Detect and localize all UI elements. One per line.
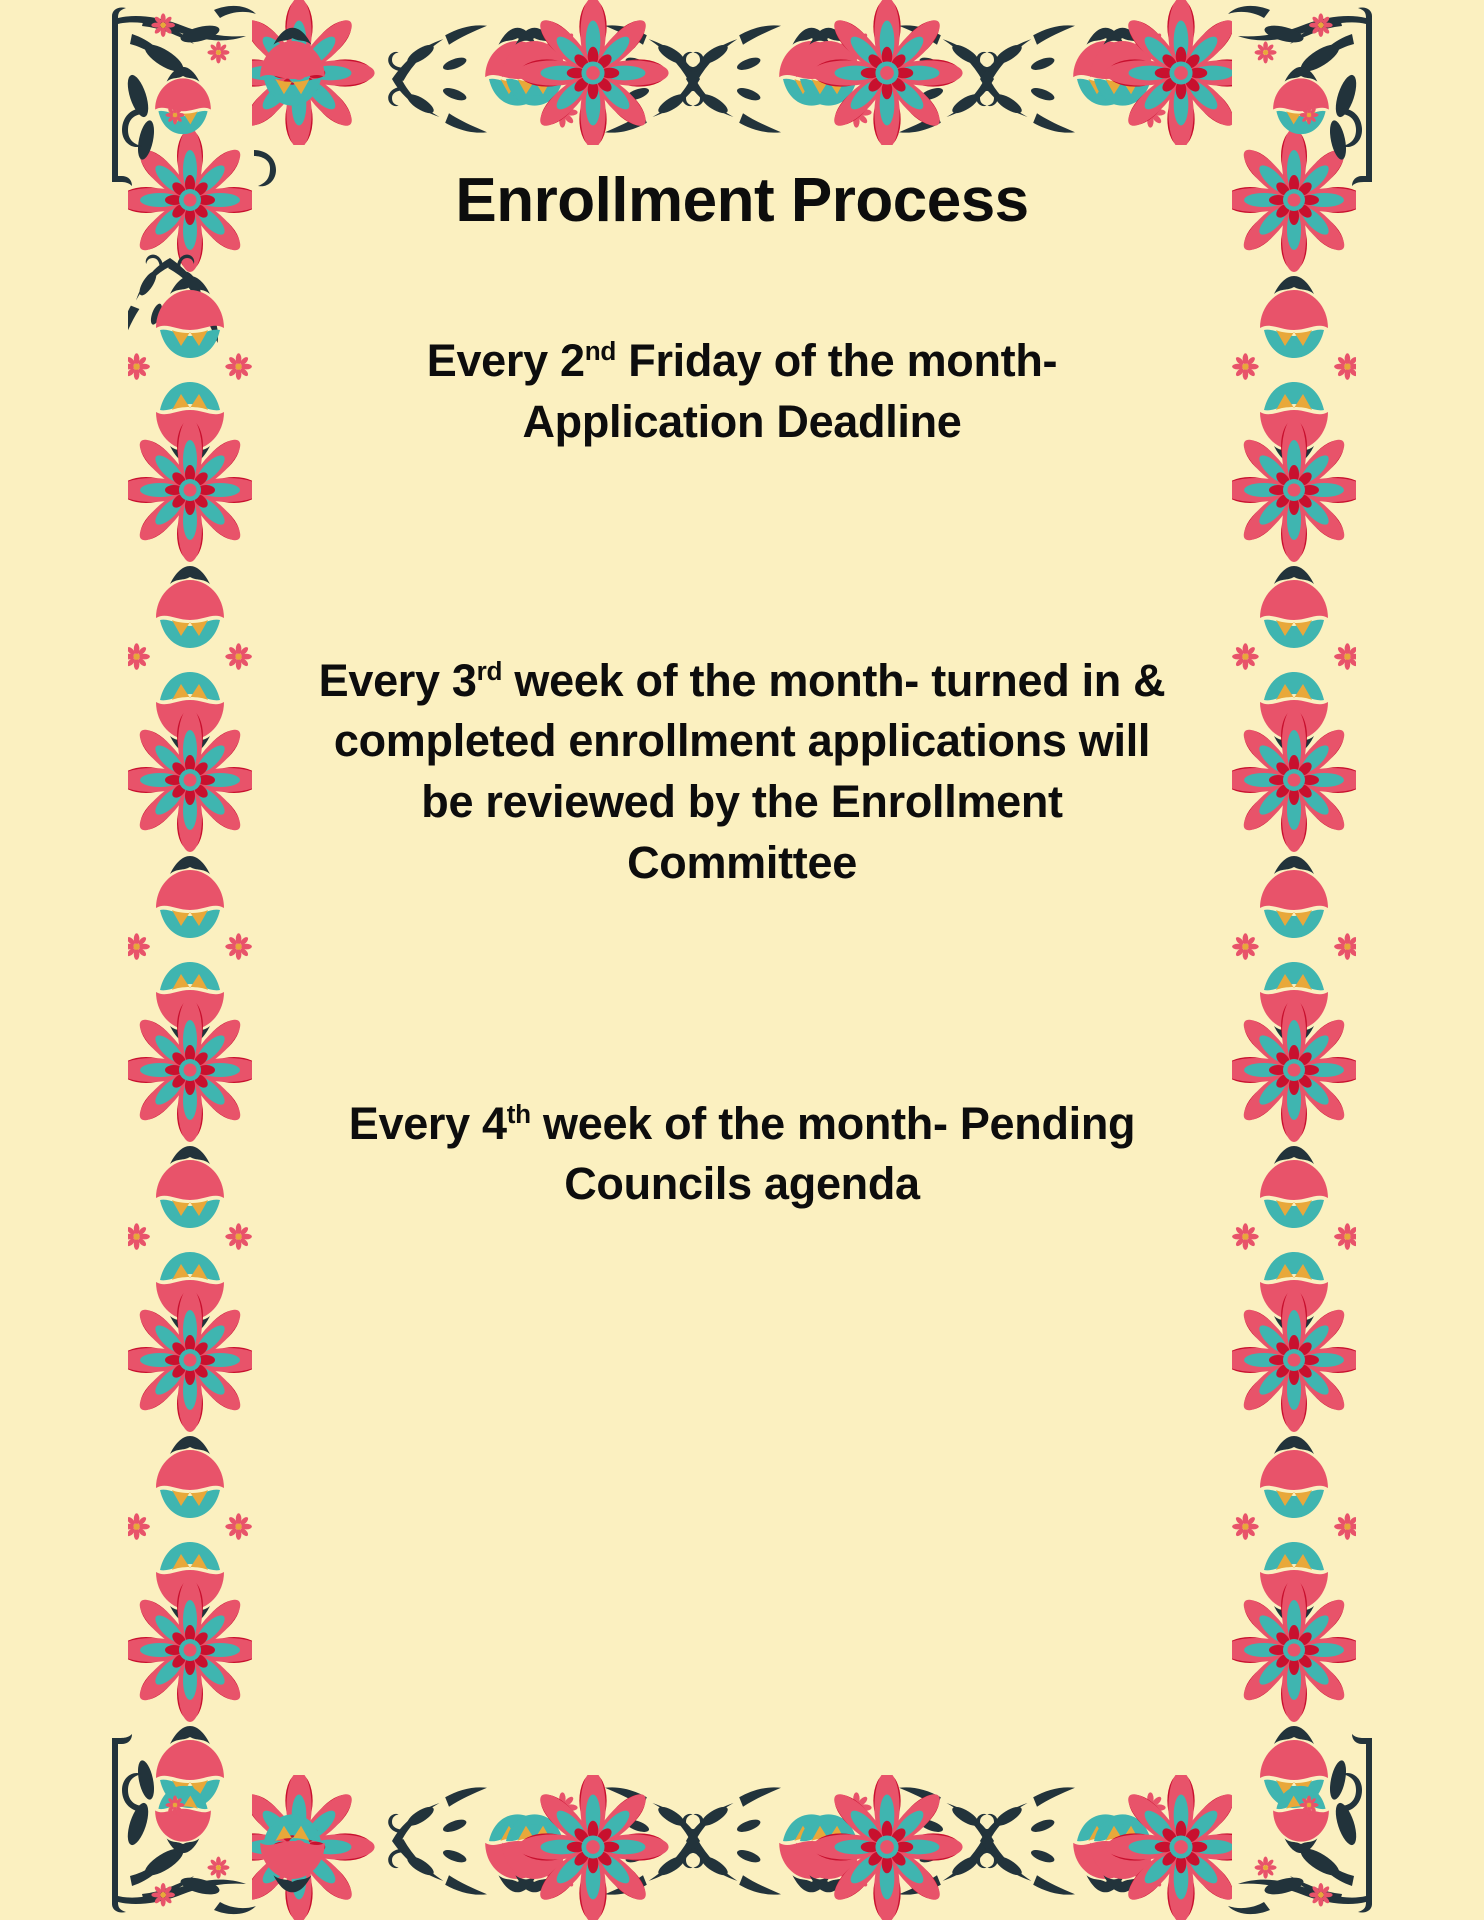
section-council-suffix: week of the month- [531,1098,948,1149]
spacer-after-section-1 [260,453,1224,651]
section-review-suffix: week of the month- [502,655,919,706]
enrollment-process-poster: Enrollment Process Every 2nd Friday of t… [0,0,1484,1920]
section-council-prefix: Every 4 [349,1098,507,1149]
spacer-after-title [260,235,1224,331]
section-review-ordinal: rd [477,656,503,686]
border-band-top [0,0,1484,145]
section-deadline-prefix: Every 2 [427,335,585,386]
spacer-after-section-2 [260,894,1224,1094]
section-deadline-ordinal: nd [585,336,616,366]
border-band-bottom [0,1775,1484,1920]
section-deadline-suffix: Friday of the month- [616,335,1057,386]
section-review-prefix: Every 3 [319,655,477,706]
poster-content: Enrollment Process Every 2nd Friday of t… [252,145,1232,1775]
section-council-ordinal: th [507,1099,531,1129]
section-council: Every 4th week of the month- Pending Cou… [302,1094,1182,1216]
border-band-right [1232,0,1356,1920]
section-deadline: Every 2nd Friday of the month- Applicati… [302,331,1182,453]
section-review: Every 3rd week of the month- turned in &… [302,651,1182,894]
section-deadline-detail: Application Deadline [522,396,961,447]
page-title: Enrollment Process [260,145,1224,235]
border-band-left [128,0,252,1920]
